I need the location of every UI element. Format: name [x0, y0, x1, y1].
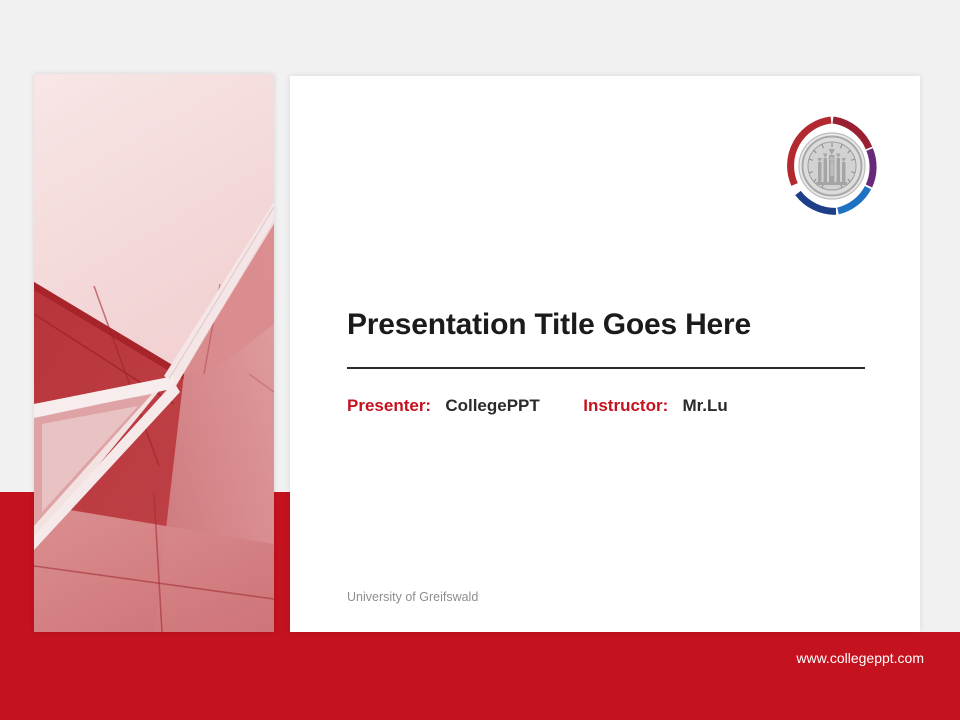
band-right-gap [920, 492, 960, 632]
instructor-label: Instructor: [583, 396, 668, 415]
instructor-name: Mr.Lu [682, 396, 727, 415]
university-seal-logo [776, 110, 888, 222]
presenter-label: Presenter: [347, 396, 431, 415]
website-url: www.collegeppt.com [0, 650, 924, 666]
presenter-name: CollegePPT [445, 396, 539, 415]
title-underline [347, 367, 865, 369]
presentation-slide: Presentation Title Goes Here Presenter: … [0, 0, 960, 720]
page-title: Presentation Title Goes Here [347, 306, 867, 344]
affiliation-text: University of Greifswald [347, 590, 478, 604]
architecture-photo [34, 74, 274, 632]
presenter-instructor-line: Presenter: CollegePPT Instructor: Mr.Lu [347, 396, 728, 416]
